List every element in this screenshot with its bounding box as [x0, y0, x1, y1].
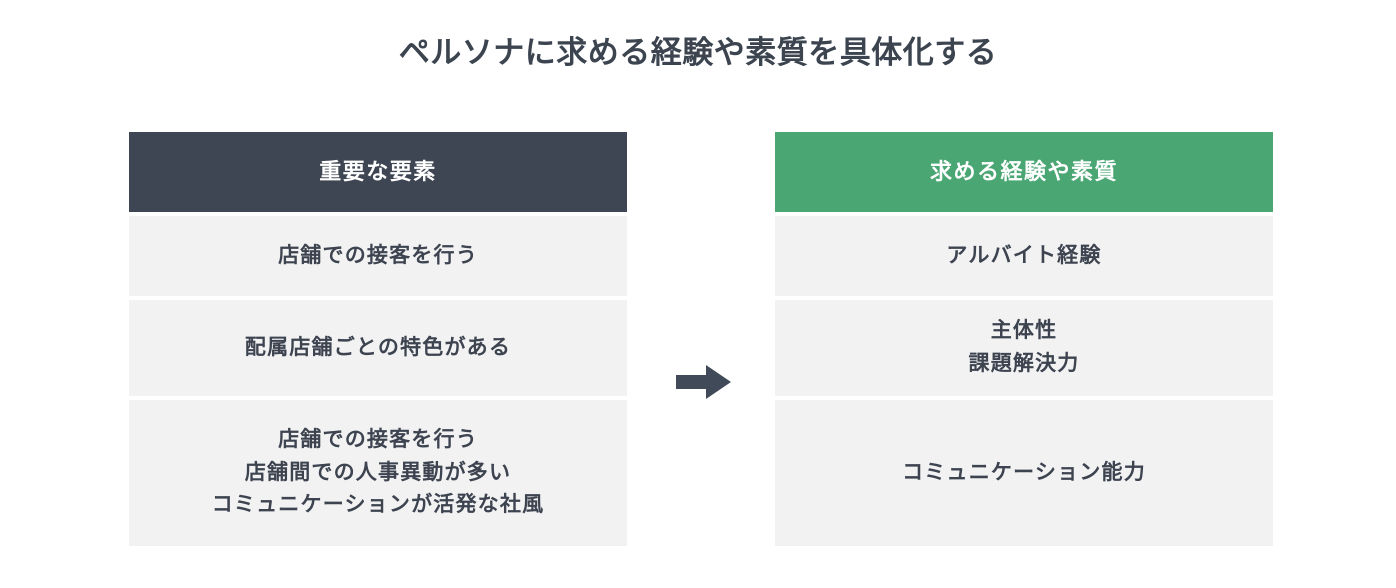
row-line: 課題解決力 — [969, 348, 1080, 381]
row-line: アルバイト経験 — [946, 240, 1101, 273]
table-row: 店舗での接客を行う — [129, 216, 627, 296]
right-table-header-label: 求める経験や素質 — [930, 158, 1118, 187]
right-table-header: 求める経験や素質 — [775, 132, 1273, 212]
row-line: コミュニケーション能力 — [902, 457, 1146, 490]
row-text: 店舗での接客を行う — [278, 240, 478, 273]
row-text: 主体性 課題解決力 — [969, 315, 1080, 380]
required-experience-table: 求める経験や素質 アルバイト経験 主体性 課題解決力 コミュニケーション能力 — [775, 132, 1273, 546]
row-text: 配属店舗ごとの特色がある — [245, 332, 511, 365]
table-row: アルバイト経験 — [775, 216, 1273, 296]
important-factors-table: 重要な要素 店舗での接客を行う 配属店舗ごとの特色がある 店舗での接客を行う 店… — [129, 132, 627, 546]
right-table-body: アルバイト経験 主体性 課題解決力 コミュニケーション能力 — [775, 212, 1273, 546]
row-text: アルバイト経験 — [946, 240, 1101, 273]
row-line: コミュニケーションが活発な社風 — [212, 489, 545, 522]
row-line: 配属店舗ごとの特色がある — [245, 332, 511, 365]
row-line: 店舗での接客を行う — [212, 424, 545, 457]
row-text: コミュニケーション能力 — [902, 457, 1146, 490]
left-table-header: 重要な要素 — [129, 132, 627, 212]
row-line: 店舗での接客を行う — [278, 240, 478, 273]
diagram-canvas: ペルソナに求める経験や素質を具体化する 重要な要素 店舗での接客を行う 配属店舗… — [0, 0, 1396, 588]
table-row: コミュニケーション能力 — [775, 400, 1273, 546]
page-title: ペルソナに求める経験や素質を具体化する — [0, 34, 1396, 73]
row-text: 店舗での接客を行う 店舗間での人事異動が多い コミュニケーションが活発な社風 — [212, 424, 545, 522]
left-table-body: 店舗での接客を行う 配属店舗ごとの特色がある 店舗での接客を行う 店舗間での人事… — [129, 212, 627, 546]
table-row: 店舗での接客を行う 店舗間での人事異動が多い コミュニケーションが活発な社風 — [129, 400, 627, 546]
row-line: 店舗間での人事異動が多い — [212, 457, 545, 490]
row-line: 主体性 — [969, 315, 1080, 348]
arrow-right-icon — [676, 364, 732, 400]
table-row: 主体性 課題解決力 — [775, 300, 1273, 396]
table-row: 配属店舗ごとの特色がある — [129, 300, 627, 396]
left-table-header-label: 重要な要素 — [319, 158, 437, 187]
